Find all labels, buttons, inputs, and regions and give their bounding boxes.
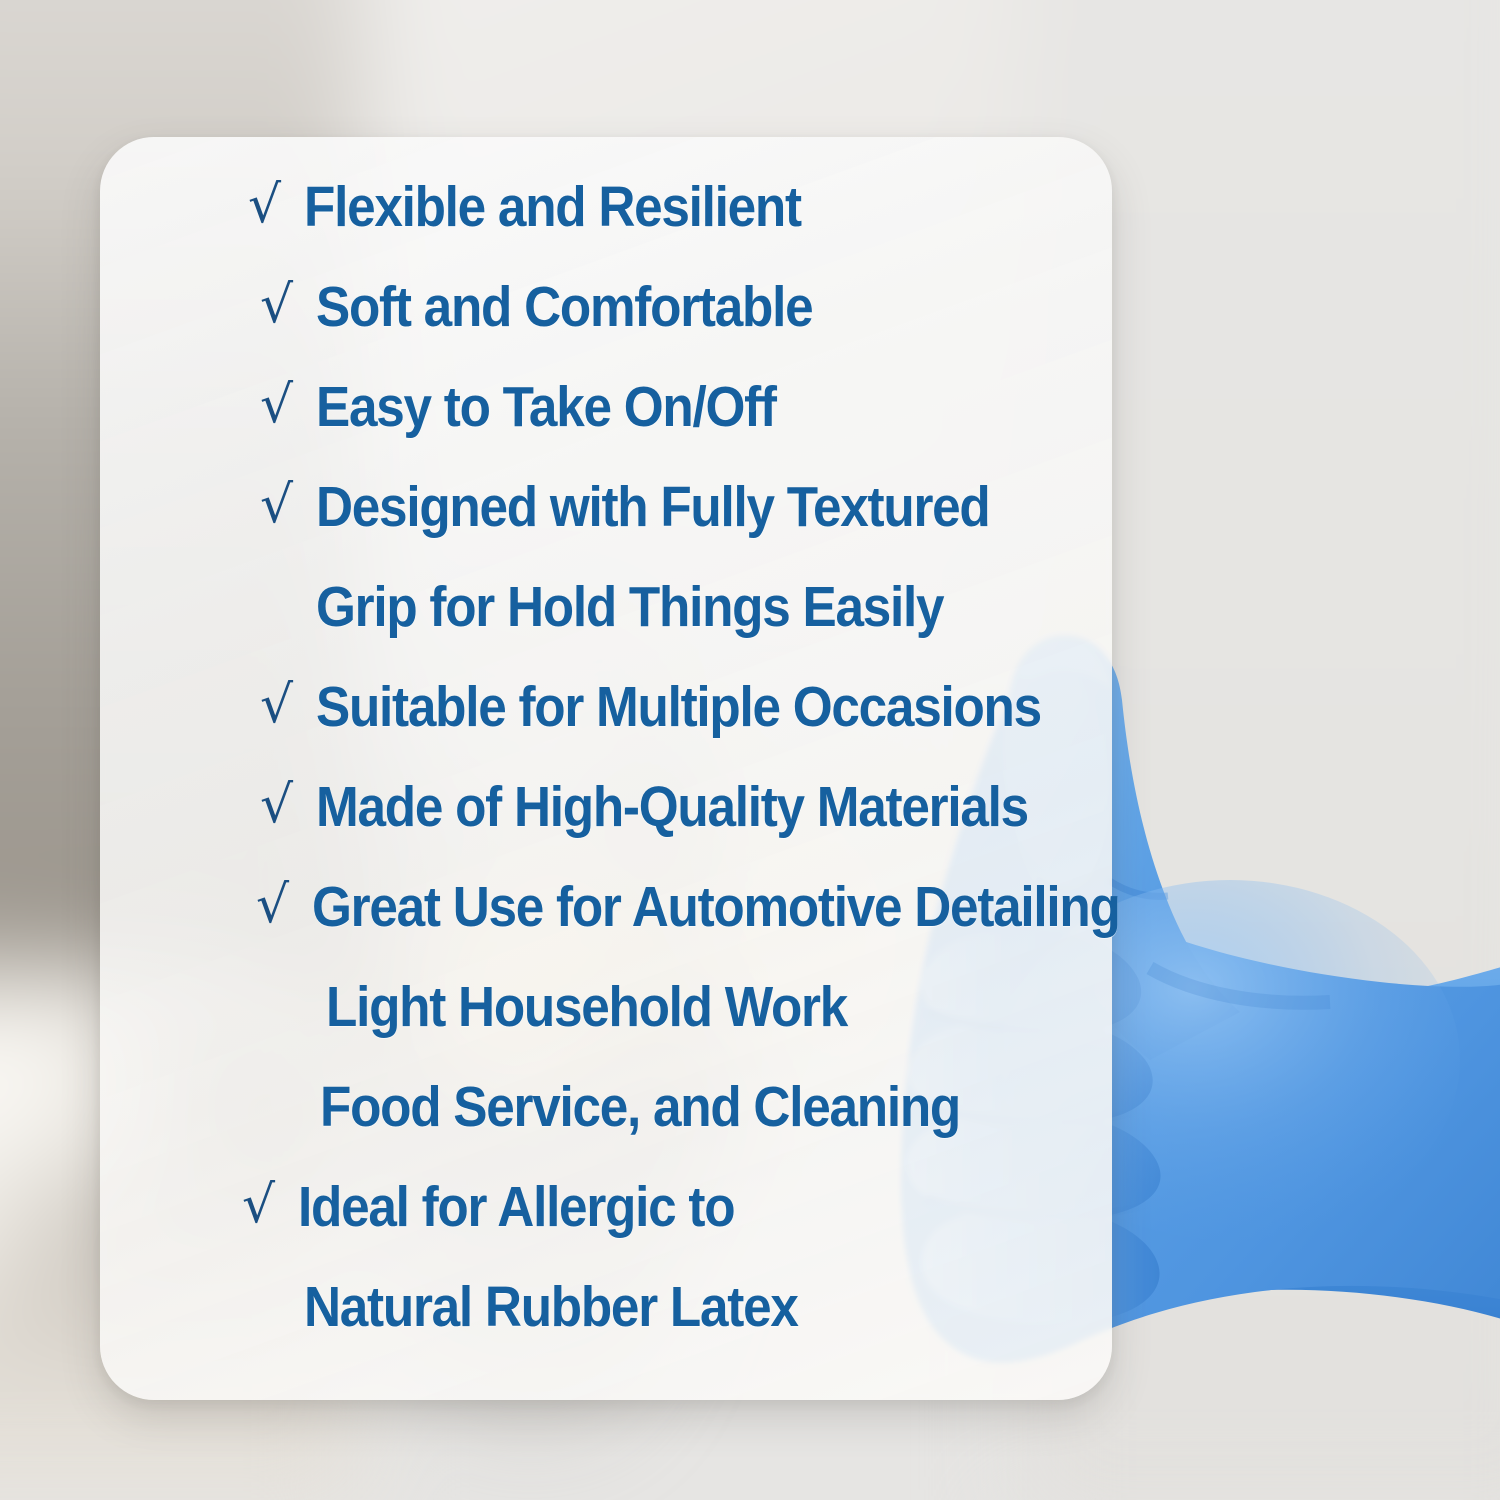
feature-item: √Suitable for Multiple Occasions xyxy=(260,679,1121,736)
feature-item: √Soft and Comfortable xyxy=(260,279,868,336)
product-feature-graphic: √Flexible and Resilient√Soft and Comfort… xyxy=(0,0,1500,1500)
check-icon: √ xyxy=(248,179,304,231)
feature-item: √Ideal for Allergic to xyxy=(242,1179,783,1236)
feature-label: Natural Rubber Latex xyxy=(304,1279,798,1336)
feature-item: Grip for Hold Things Easily xyxy=(260,579,1013,636)
feature-item: √Flexible and Resilient xyxy=(248,179,856,236)
check-icon: √ xyxy=(260,779,316,831)
feature-label: Suitable for Multiple Occasions xyxy=(316,679,1041,736)
check-icon: √ xyxy=(260,279,316,331)
feature-label: Great Use for Automotive Detailing xyxy=(312,879,1120,936)
feature-item: √Designed with Fully Textured xyxy=(260,479,1064,536)
feature-label: Food Service, and Cleaning xyxy=(320,1079,960,1136)
check-icon: √ xyxy=(260,679,316,731)
feature-item: √Great Use for Automotive Detailing xyxy=(256,879,1209,936)
feature-list: √Flexible and Resilient√Soft and Comfort… xyxy=(100,137,1112,1400)
check-icon: √ xyxy=(256,879,312,931)
check-icon: √ xyxy=(242,1179,298,1231)
feature-item: √Made of High-Quality Materials xyxy=(260,779,1107,836)
feature-item: Natural Rubber Latex xyxy=(248,1279,852,1336)
feature-item: √Easy to Take On/Off xyxy=(260,379,827,436)
feature-label: Flexible and Resilient xyxy=(304,179,801,236)
feature-label: Designed with Fully Textured xyxy=(316,479,990,536)
feature-item: Light Household Work xyxy=(270,979,905,1036)
feature-label: Light Household Work xyxy=(326,979,847,1036)
feature-label: Ideal for Allergic to xyxy=(298,1179,734,1236)
feature-label: Soft and Comfortable xyxy=(316,279,812,336)
feature-item: Food Service, and Cleaning xyxy=(264,1079,1031,1136)
check-icon: √ xyxy=(260,479,316,531)
feature-label: Made of High-Quality Materials xyxy=(316,779,1028,836)
feature-label: Easy to Take On/Off xyxy=(316,379,776,436)
feature-label: Grip for Hold Things Easily xyxy=(316,579,943,636)
product-feature-card: √Flexible and Resilient√Soft and Comfort… xyxy=(100,137,1112,1400)
check-icon: √ xyxy=(260,379,316,431)
